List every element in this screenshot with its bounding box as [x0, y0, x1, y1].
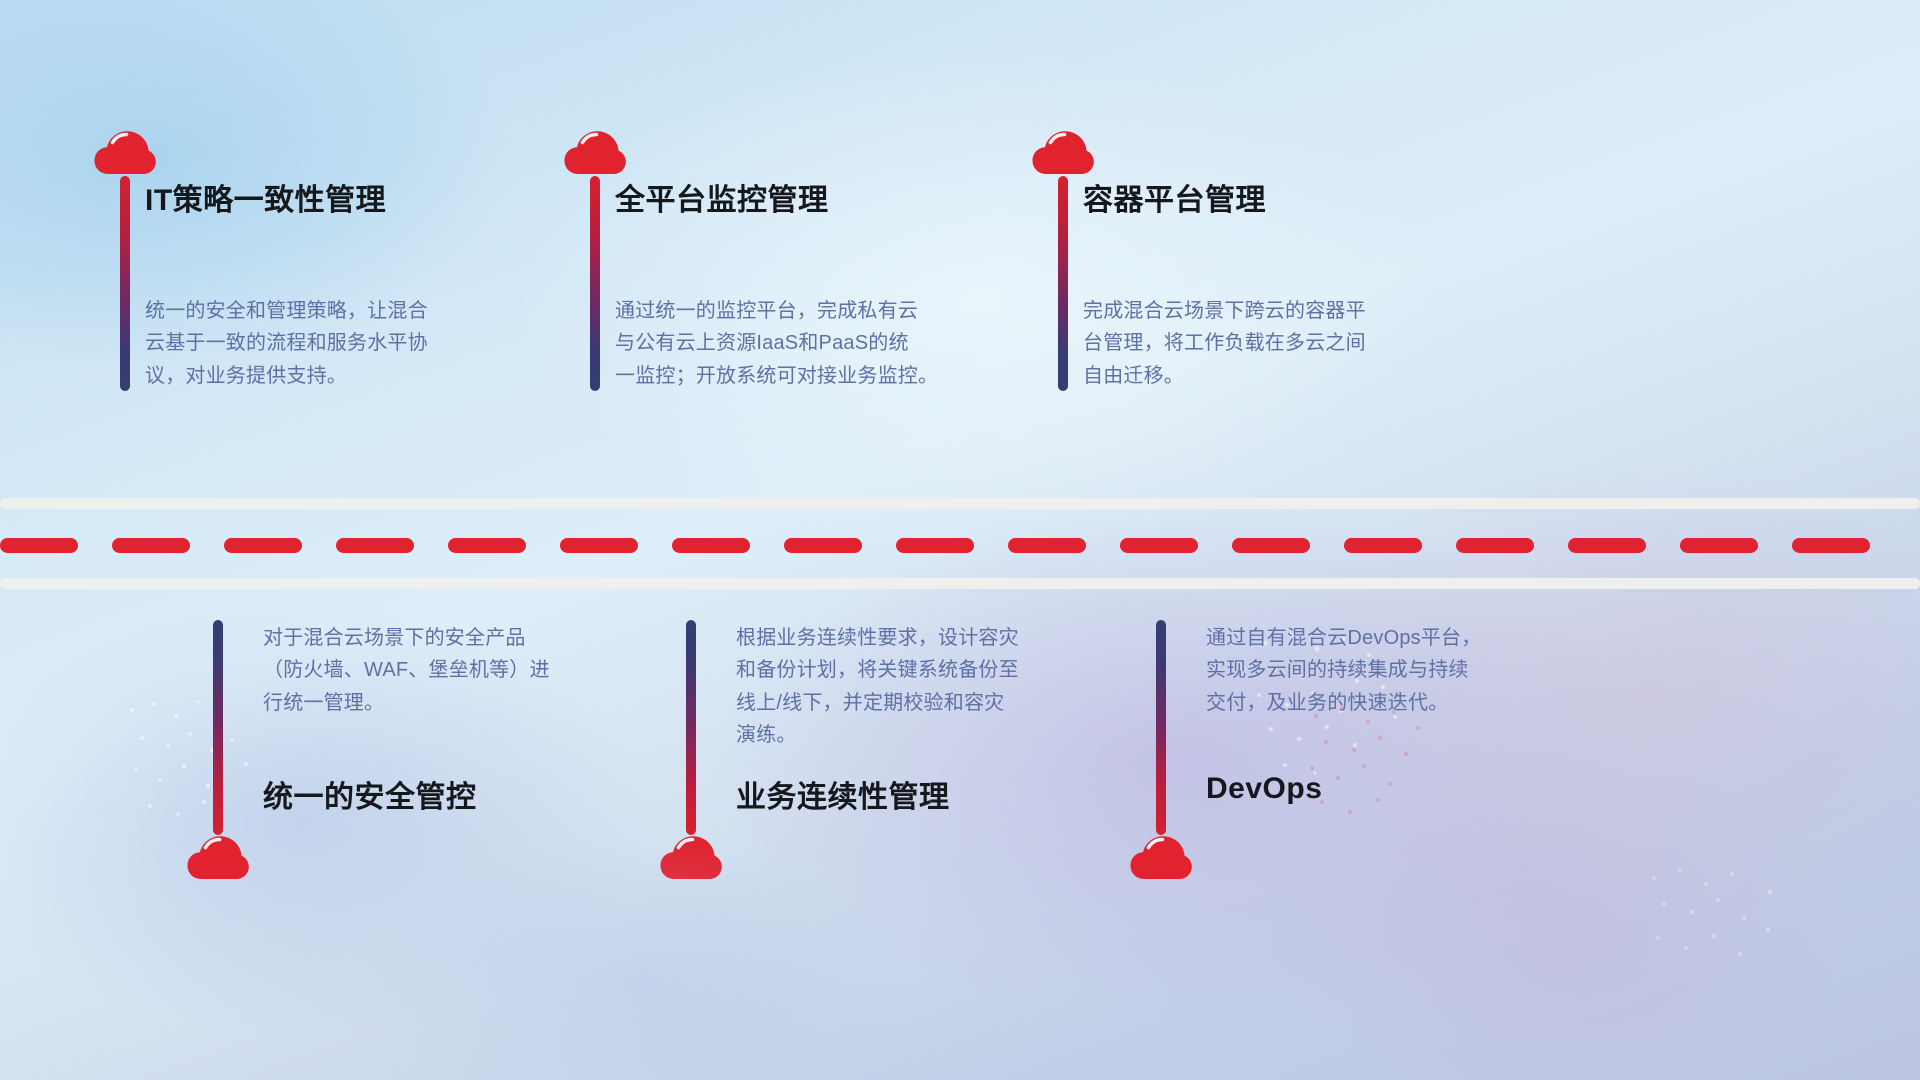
road-dash [1680, 538, 1758, 553]
road-dash [784, 538, 862, 553]
road-dash [224, 538, 302, 553]
road-dash [896, 538, 974, 553]
road-divider [0, 490, 1920, 600]
decorative-dots-right [1640, 860, 1820, 1000]
top-column-2-heading: 全平台监控管理 [615, 175, 829, 219]
column-stem [590, 176, 600, 391]
top-column-2-body: 通过统一的监控平台，完成私有云 与公有云上资源IaaS和PaaS的统 一监控；开… [615, 295, 938, 392]
road-line-bottom [0, 578, 1920, 589]
column-stem [1058, 176, 1068, 391]
bottom-column-1[interactable]: 对于混合云场景下的安全产品 （防火墙、WAF、堡垒机等）进 行统一管理。 统一的… [205, 620, 645, 881]
road-line-top [0, 498, 1920, 509]
bottom-column-2-body: 根据业务连续性要求，设计容灾 和备份计划，将关键系统备份至 线上/线下，并定期校… [736, 622, 1019, 752]
top-column-1[interactable]: IT策略一致性管理 统一的安全和管理策略，让混合 云基于一致的流程和服务水平协 … [82, 130, 512, 391]
bottom-column-1-heading: 统一的安全管控 [263, 772, 477, 816]
road-dash [1792, 538, 1870, 553]
road-dash [0, 538, 78, 553]
top-column-3-heading: 容器平台管理 [1083, 175, 1266, 219]
top-column-3-body: 完成混合云场景下跨云的容器平 台管理，将工作负载在多云之间 自由迁移。 [1083, 295, 1366, 392]
column-stem [120, 176, 130, 391]
road-dash [448, 538, 526, 553]
bottom-column-1-body: 对于混合云场景下的安全产品 （防火墙、WAF、堡垒机等）进 行统一管理。 [263, 622, 550, 719]
bottom-column-2[interactable]: 根据业务连续性要求，设计容灾 和备份计划，将关键系统备份至 线上/线下，并定期校… [678, 620, 1118, 881]
road-dashed-centerline [0, 538, 1920, 553]
road-dash [560, 538, 638, 553]
road-dash [1008, 538, 1086, 553]
top-column-3[interactable]: 容器平台管理 完成混合云场景下跨云的容器平 台管理，将工作负载在多云之间 自由迁… [1020, 130, 1460, 391]
top-column-1-body: 统一的安全和管理策略，让混合 云基于一致的流程和服务水平协 议，对业务提供支持。 [145, 295, 428, 392]
cloud-icon [187, 835, 249, 881]
road-dash [1456, 538, 1534, 553]
road-dash [1120, 538, 1198, 553]
cloud-icon [1032, 130, 1094, 176]
bottom-column-2-heading: 业务连续性管理 [736, 772, 950, 816]
road-dash [1568, 538, 1646, 553]
cloud-icon [94, 130, 156, 176]
infographic-canvas: IT策略一致性管理 统一的安全和管理策略，让混合 云基于一致的流程和服务水平协 … [0, 0, 1920, 1080]
cloud-icon [660, 835, 722, 881]
bottom-column-3-heading: DevOps [1206, 772, 1322, 806]
road-dash [112, 538, 190, 553]
cloud-icon [1130, 835, 1192, 881]
top-column-1-heading: IT策略一致性管理 [145, 175, 386, 219]
bottom-column-3-body: 通过自有混合云DevOps平台， 实现多云间的持续集成与持续 交付，及业务的快速… [1206, 622, 1481, 719]
column-stem [1156, 620, 1166, 835]
top-column-2[interactable]: 全平台监控管理 通过统一的监控平台，完成私有云 与公有云上资源IaaS和PaaS… [552, 130, 982, 391]
road-dash [1232, 538, 1310, 553]
road-dash [672, 538, 750, 553]
road-dash [1344, 538, 1422, 553]
column-stem [213, 620, 223, 835]
bottom-column-3[interactable]: 通过自有混合云DevOps平台， 实现多云间的持续集成与持续 交付，及业务的快速… [1148, 620, 1588, 881]
column-stem [686, 620, 696, 835]
road-dash [336, 538, 414, 553]
cloud-icon [564, 130, 626, 176]
